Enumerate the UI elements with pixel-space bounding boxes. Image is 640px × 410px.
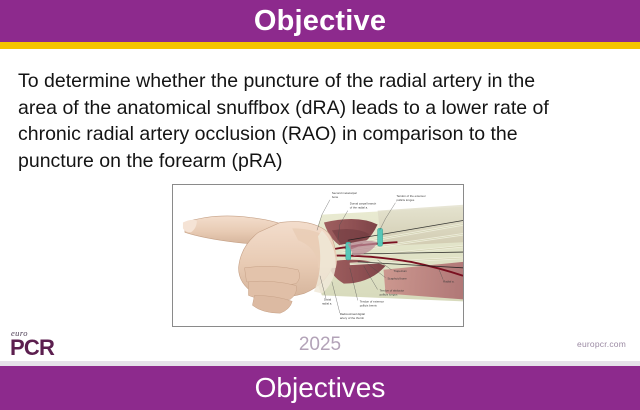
svg-text:Radial a.: Radial a.	[443, 280, 455, 284]
slide-bottom-band: Objectives	[0, 366, 640, 410]
bottom-section-title: Objectives	[255, 374, 386, 402]
svg-text:Scaphoid bone: Scaphoid bone	[388, 277, 408, 281]
svg-text:Trapezium: Trapezium	[393, 269, 407, 273]
svg-text:of the radial a.: of the radial a.	[350, 206, 368, 210]
slide-root: Objective To determine whether the punct…	[0, 0, 640, 410]
anatomy-illustration: Second metacarpal bone Dorsal carpal bra…	[173, 185, 463, 326]
slide-header-band: Objective	[0, 0, 640, 42]
page-title: Objective	[254, 7, 386, 36]
svg-text:radial a.: radial a.	[322, 301, 332, 305]
svg-text:pollicis longus: pollicis longus	[380, 292, 398, 296]
footer-year: 2025	[0, 334, 640, 356]
svg-text:pollicis brevis: pollicis brevis	[360, 303, 378, 307]
svg-text:artery of the thumb: artery of the thumb	[340, 316, 364, 320]
objective-body-text: To determine whether the puncture of the…	[18, 68, 618, 174]
svg-text:pollicis longus: pollicis longus	[396, 198, 414, 202]
header-accent-rule	[0, 42, 640, 49]
svg-text:bone: bone	[332, 195, 339, 199]
footer-url: europcr.com	[577, 339, 626, 349]
anatomy-figure: Second metacarpal bone Dorsal carpal bra…	[172, 184, 464, 327]
